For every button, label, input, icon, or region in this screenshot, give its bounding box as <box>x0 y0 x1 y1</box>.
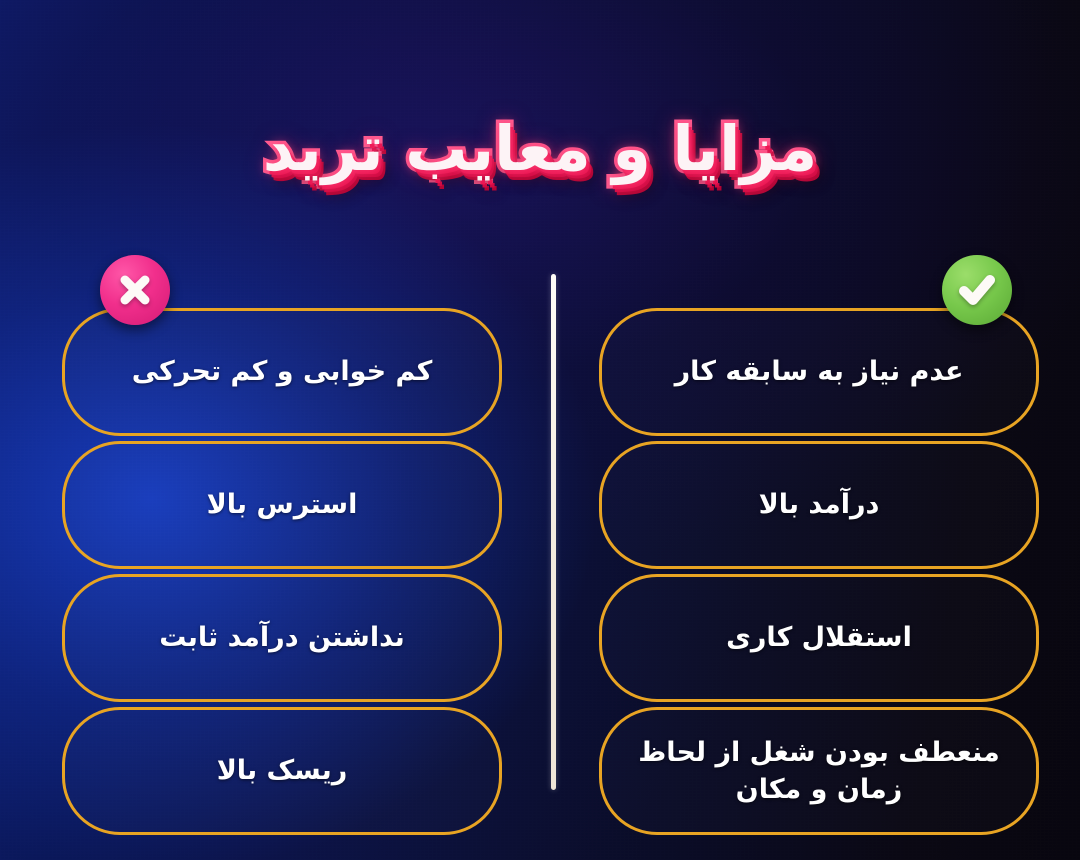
pros-card-label: درآمد بالا <box>759 486 880 523</box>
cons-card-label: کم خوابی و کم تحرکی <box>132 353 433 390</box>
cons-column: کم خوابی و کم تحرکی استرس بالا نداشتن در… <box>62 308 502 835</box>
cons-card-label: نداشتن درآمد ثابت <box>159 619 405 656</box>
cons-card-label: ریسک بالا <box>217 752 348 789</box>
cons-card-3: نداشتن درآمد ثابت <box>62 574 502 702</box>
cons-card-label: استرس بالا <box>207 486 358 523</box>
check-icon <box>942 255 1012 325</box>
pros-card-2: درآمد بالا <box>599 441 1039 569</box>
pros-card-label: منعطف بودن شغل از لحاظ زمان و مکان <box>636 734 1002 809</box>
pros-card-3: استقلال کاری <box>599 574 1039 702</box>
infographic-canvas: مزایا و معایب ترید کم خوابی و کم تحرکی ا… <box>0 0 1080 860</box>
pros-column: عدم نیاز به سابقه کار درآمد بالا استقلال… <box>599 308 1039 835</box>
pros-card-label: استقلال کاری <box>726 619 912 656</box>
pros-card-1: عدم نیاز به سابقه کار <box>599 308 1039 436</box>
cross-icon <box>100 255 170 325</box>
page-title: مزایا و معایب ترید <box>263 116 818 181</box>
cons-card-1: کم خوابی و کم تحرکی <box>62 308 502 436</box>
cons-card-4: ریسک بالا <box>62 707 502 835</box>
pros-card-4: منعطف بودن شغل از لحاظ زمان و مکان <box>599 707 1039 835</box>
column-divider <box>551 274 556 790</box>
pros-card-label: عدم نیاز به سابقه کار <box>675 353 964 390</box>
cons-card-2: استرس بالا <box>62 441 502 569</box>
title-container: مزایا و معایب ترید <box>0 116 1080 181</box>
